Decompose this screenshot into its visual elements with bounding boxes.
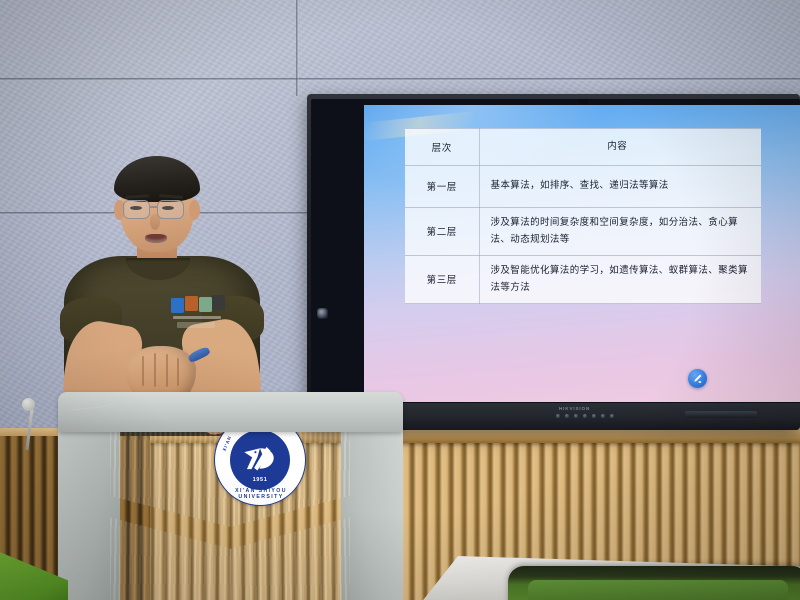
led-indicator bbox=[556, 414, 560, 418]
row-level-2: 第二层 bbox=[405, 207, 479, 255]
print-text-block bbox=[177, 322, 215, 328]
print-chip bbox=[171, 298, 184, 313]
chair-foreground-right bbox=[508, 566, 800, 600]
print-chip bbox=[212, 295, 225, 310]
podium-lower-left-panel bbox=[110, 512, 232, 600]
display-brand-label: HIKVISION bbox=[559, 406, 590, 411]
eyeglasses-lens-left bbox=[123, 200, 150, 219]
chair-seat-pad bbox=[528, 580, 788, 600]
pen-icon bbox=[692, 373, 703, 384]
table-header-row: 层次 内容 bbox=[405, 129, 761, 166]
lectern-podium: 西安石油大学 XI'AN 1951 XI'AN SHIYOU UNIVERSIT… bbox=[58, 392, 403, 600]
eyeglasses-bridge bbox=[150, 206, 158, 208]
pen-annotation-button[interactable] bbox=[688, 369, 707, 388]
row-level-3: 第三层 bbox=[405, 255, 479, 303]
finger bbox=[166, 354, 168, 387]
speaker-ear-right bbox=[189, 200, 200, 220]
table-header: 层次 内容 bbox=[405, 129, 761, 166]
led-indicator bbox=[565, 414, 569, 418]
wall-seam-horizontal-top bbox=[0, 78, 800, 81]
emblem-founding-year: 1951 bbox=[230, 477, 290, 483]
tshirt-graphic-print bbox=[171, 298, 223, 332]
podium-lower-right-panel bbox=[230, 512, 350, 600]
finger bbox=[154, 353, 156, 387]
slide-table: 层次 内容 第一层 基本算法，如排序、查找、递归法等算法 第二层 涉及算法的时间… bbox=[405, 128, 761, 304]
row-content-2: 涉及算法的时间复杂度和空间复杂度，如分治法、贪心算法、动态规划法等 bbox=[479, 207, 761, 255]
table-body: 第一层 基本算法，如排序、查找、递归法等算法 第二层 涉及算法的时间复杂度和空间… bbox=[405, 165, 761, 303]
camera-icon bbox=[579, 99, 588, 104]
ir-receiver-strip bbox=[685, 411, 757, 418]
print-chip bbox=[199, 297, 212, 312]
flat-panel-display[interactable]: 层次 内容 第一层 基本算法，如排序、查找、递归法等算法 第二层 涉及算法的时间… bbox=[307, 94, 800, 430]
led-indicator bbox=[601, 414, 605, 418]
display-bezel: 层次 内容 第一层 基本算法，如排序、查找、递归法等算法 第二层 涉及算法的时间… bbox=[311, 99, 800, 404]
lecture-hall-scene: 层次 内容 第一层 基本算法，如排序、查找、递归法等算法 第二层 涉及算法的时间… bbox=[0, 0, 800, 600]
led-indicator bbox=[583, 414, 587, 418]
table-row: 第三层 涉及智能优化算法的学习，如遗传算法、蚁群算法、聚类算法等方法 bbox=[405, 255, 761, 303]
column-header-level: 层次 bbox=[405, 129, 479, 166]
podium-side-right bbox=[341, 418, 403, 600]
column-header-content: 内容 bbox=[479, 129, 761, 166]
print-chip bbox=[185, 296, 198, 311]
led-indicator bbox=[574, 414, 578, 418]
eyeglasses-lens-right bbox=[157, 200, 184, 219]
row-content-3: 涉及智能优化算法的学习，如遗传算法、蚁群算法、聚类算法等方法 bbox=[479, 255, 761, 303]
print-text-line bbox=[173, 316, 221, 319]
wall-seam-vertical bbox=[296, 0, 299, 96]
led-indicator bbox=[610, 414, 614, 418]
presentation-slide: 层次 内容 第一层 基本算法，如排序、查找、递归法等算法 第二层 涉及算法的时间… bbox=[364, 105, 800, 402]
table-row: 第一层 基本算法，如排序、查找、递归法等算法 bbox=[405, 165, 761, 207]
row-level-1: 第一层 bbox=[405, 165, 479, 207]
emblem-inner-disc: 1951 bbox=[230, 430, 290, 490]
finger bbox=[142, 356, 144, 386]
emblem-bird-logo bbox=[240, 443, 280, 477]
microphone-icon bbox=[22, 398, 35, 411]
row-content-1: 基本算法，如排序、查找、递归法等算法 bbox=[479, 165, 761, 207]
table-row: 第二层 涉及算法的时间复杂度和空间复杂度，如分治法、贪心算法、动态规划法等 bbox=[405, 207, 761, 255]
emblem-english-name: XI'AN SHIYOU UNIVERSITY bbox=[215, 488, 307, 500]
speaker-nose bbox=[150, 214, 160, 230]
led-indicator bbox=[592, 414, 596, 418]
display-indicator-leds bbox=[556, 414, 614, 418]
display-power-button[interactable] bbox=[317, 308, 328, 319]
finger bbox=[177, 358, 179, 386]
speaker-mouth bbox=[145, 234, 167, 243]
